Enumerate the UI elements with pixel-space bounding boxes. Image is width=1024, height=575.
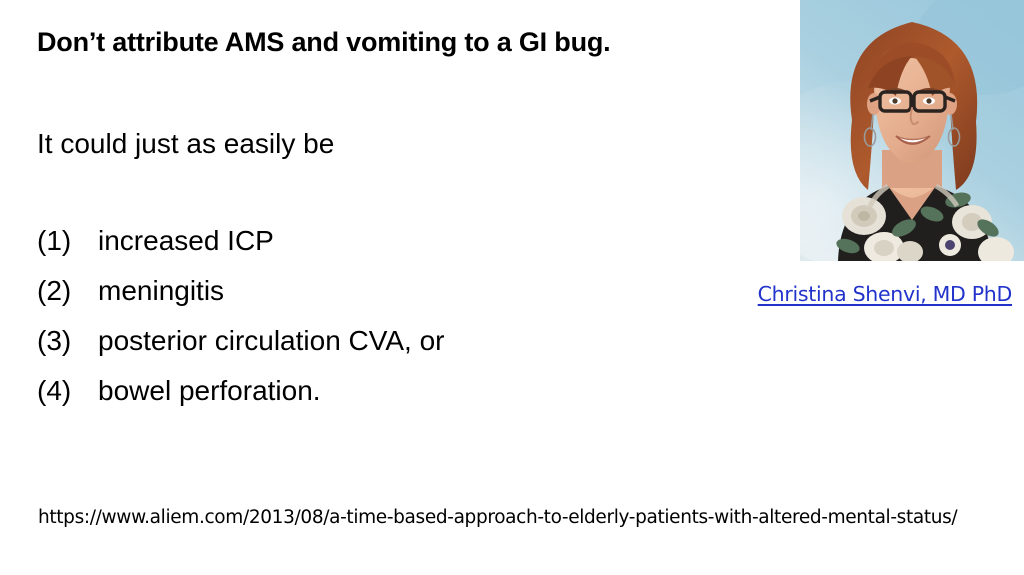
list-item-marker: (3) [37,324,98,358]
photo-caption: Christina Shenvi, MD PhD [700,281,1012,307]
source-url-text: https://www.aliem.com/2013/08/a-time-bas… [38,506,993,530]
slide-canvas: Don’t attribute AMS and vomiting to a GI… [0,0,1024,575]
photo-credit-link[interactable]: Christina Shenvi, MD PhD [758,282,1012,306]
portrait-photo [800,0,1024,261]
list-item-marker: (2) [37,274,98,308]
differential-list: (1) increased ICP (2) meningitis (3) pos… [37,224,737,424]
list-item-label: meningitis [98,274,737,308]
list-item: (4) bowel perforation. [37,374,737,424]
list-item-label: increased ICP [98,224,737,258]
list-item-marker: (4) [37,374,98,408]
list-item-label: posterior circulation CVA, or [98,324,737,358]
list-item: (1) increased ICP [37,224,737,274]
list-item-marker: (1) [37,224,98,258]
list-item: (3) posterior circulation CVA, or [37,324,737,374]
portrait-illustration [800,0,1024,261]
slide-title: Don’t attribute AMS and vomiting to a GI… [37,26,777,58]
list-item: (2) meningitis [37,274,737,324]
list-item-label: bowel perforation. [98,374,737,408]
lead-sentence: It could just as easily be [37,127,334,161]
